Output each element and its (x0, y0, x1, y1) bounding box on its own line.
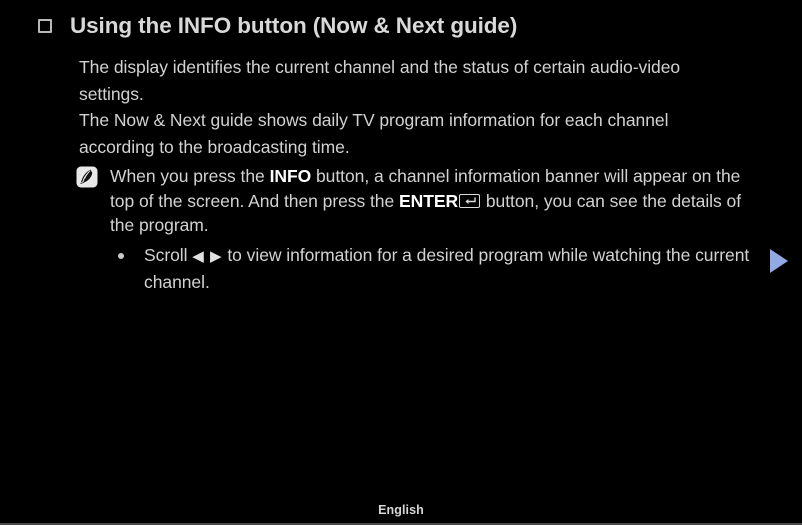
note-block: When you press the INFO button, a channe… (76, 164, 766, 238)
page-title: Using the INFO button (Now & Next guide) (70, 11, 517, 41)
note-keyword-info: INFO (270, 166, 312, 186)
triangle-right-icon[interactable] (770, 249, 788, 273)
sub-bullet-row: Scroll ◀ ▶ to view information for a des… (118, 243, 758, 294)
hollow-square-icon (38, 19, 52, 33)
tv-help-screen: Using the INFO button (Now & Next guide)… (0, 0, 802, 525)
left-right-arrow-icons: ◀ ▶ (192, 248, 222, 265)
sub-bullet-text: Scroll ◀ ▶ to view information for a des… (144, 243, 758, 294)
note-text-part-1: When you press the (110, 166, 270, 186)
enter-key-icon (459, 194, 480, 208)
footer-language: English (0, 503, 802, 517)
note-text: When you press the INFO button, a channe… (110, 164, 766, 238)
description-paragraph-2: The Now & Next guide shows daily TV prog… (79, 107, 739, 160)
description-paragraph-1: The display identifies the current chann… (79, 54, 739, 107)
page-title-row: Using the INFO button (Now & Next guide) (38, 11, 762, 41)
note-pen-icon (76, 166, 98, 188)
note-keyword-enter: ENTER (399, 191, 458, 211)
sub-bullet-part-1: Scroll (144, 245, 192, 265)
filled-dot-icon (118, 253, 124, 259)
sub-bullet-part-2: to view information for a desired progra… (144, 245, 749, 292)
